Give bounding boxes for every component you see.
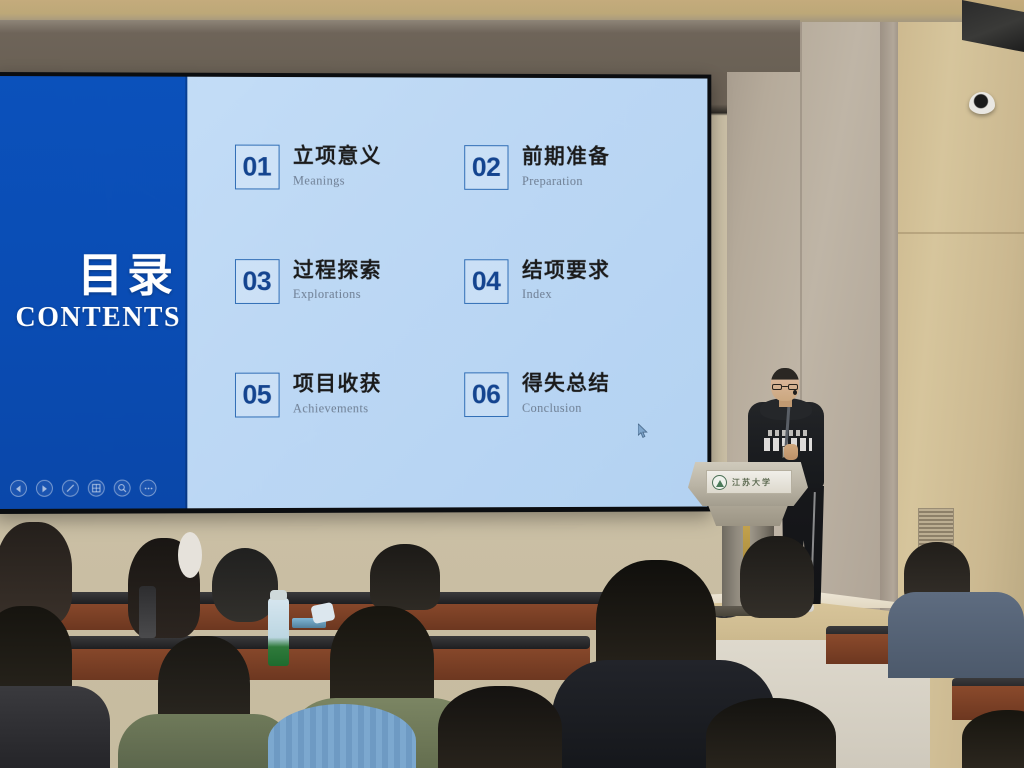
slide-heading-en: CONTENTS (15, 301, 180, 333)
toc-item: 06 得失总结 Conclusion (464, 372, 682, 442)
toc-label-cn: 结项要求 (522, 259, 610, 282)
wood-panel-seam (898, 232, 1024, 234)
audience-head (370, 544, 440, 610)
toc-label-group: 前期准备 Preparation (522, 145, 610, 188)
toc-label-en: Index (522, 287, 610, 302)
toc-label-cn: 前期准备 (522, 145, 610, 168)
toc-number-badge: 06 (464, 373, 508, 418)
toc-number-badge: 02 (464, 145, 508, 190)
toc-number-badge: 03 (235, 259, 280, 304)
powerpoint-presenter-toolbar[interactable] (10, 480, 157, 497)
dome-security-camera-icon (969, 92, 995, 114)
slide-heading-cn: 目录 (77, 252, 177, 298)
ceiling-dark-band (0, 20, 800, 72)
water-bottle (268, 598, 289, 666)
bench-rail (0, 592, 690, 604)
toc-label-cn: 过程探索 (293, 259, 382, 282)
audience-head (178, 532, 202, 578)
previous-slide-button[interactable] (10, 480, 27, 497)
university-logo-icon (712, 475, 727, 490)
table-of-contents-grid: 01 立项意义 Meanings 02 前期准备 Preparation (235, 145, 682, 444)
toc-number-badge: 01 (235, 145, 280, 190)
toc-label-group: 过程探索 Explorations (293, 259, 382, 302)
toc-label-en: Conclusion (522, 401, 610, 416)
audience-head (740, 536, 814, 618)
lecture-hall-photo: 目录 CONTENTS 01 立项意义 Meanings (0, 0, 1024, 768)
zoom-button[interactable] (114, 480, 131, 497)
toc-item: 01 立项意义 Meanings (235, 145, 455, 216)
toc-label-group: 立项意义 Meanings (293, 145, 382, 188)
water-bottle-cap (270, 590, 287, 600)
toc-label-en: Preparation (522, 174, 610, 189)
toc-item: 05 项目收获 Achievements (235, 373, 455, 444)
ceiling-soffit (0, 0, 1024, 22)
screen-surface: 目录 CONTENTS 01 立项意义 Meanings (0, 76, 707, 509)
audience-head (706, 698, 836, 768)
mouse-pointer-arrow-icon (638, 423, 649, 438)
toc-label-group: 项目收获 Achievements (293, 373, 382, 416)
tumbler (139, 586, 156, 638)
pen-annotation-button[interactable] (62, 480, 79, 497)
toc-number-badge: 04 (464, 259, 508, 304)
podium-nameplate-text: 江苏大学 (732, 477, 772, 488)
audience-area (0, 508, 1024, 768)
audience-beanie (268, 704, 416, 768)
toc-label-cn: 项目收获 (293, 373, 382, 397)
powerpoint-slide: 目录 CONTENTS 01 立项意义 Meanings (0, 76, 707, 509)
next-slide-button[interactable] (36, 480, 53, 497)
bench-row (0, 644, 590, 680)
audience-body (888, 592, 1024, 678)
toc-label-cn: 立项意义 (293, 145, 382, 169)
toc-label-group: 得失总结 Conclusion (522, 373, 610, 416)
bench-rail (0, 636, 590, 649)
audience-head (438, 686, 562, 768)
toc-item: 03 过程探索 Explorations (235, 259, 455, 329)
toc-label-group: 结项要求 Index (522, 259, 610, 302)
slide-title-panel: 目录 CONTENTS (0, 76, 187, 509)
toc-item: 04 结项要求 Index (464, 259, 682, 329)
presenter-hand (784, 444, 798, 460)
more-options-button[interactable] (140, 480, 157, 497)
toc-label-en: Explorations (293, 287, 382, 302)
slide-grid-button[interactable] (88, 480, 105, 497)
slide-content-panel: 01 立项意义 Meanings 02 前期准备 Preparation (187, 77, 708, 509)
projection-screen: 目录 CONTENTS 01 立项意义 Meanings (0, 72, 711, 514)
toc-item: 02 前期准备 Preparation (464, 145, 682, 215)
audience-body (0, 686, 110, 768)
podium-nameplate: 江苏大学 (706, 470, 792, 494)
toc-label-en: Meanings (293, 173, 382, 188)
toc-label-en: Achievements (293, 401, 382, 416)
toc-number-badge: 05 (235, 373, 280, 418)
toc-label-cn: 得失总结 (522, 373, 610, 396)
microphone-icon (793, 390, 797, 395)
